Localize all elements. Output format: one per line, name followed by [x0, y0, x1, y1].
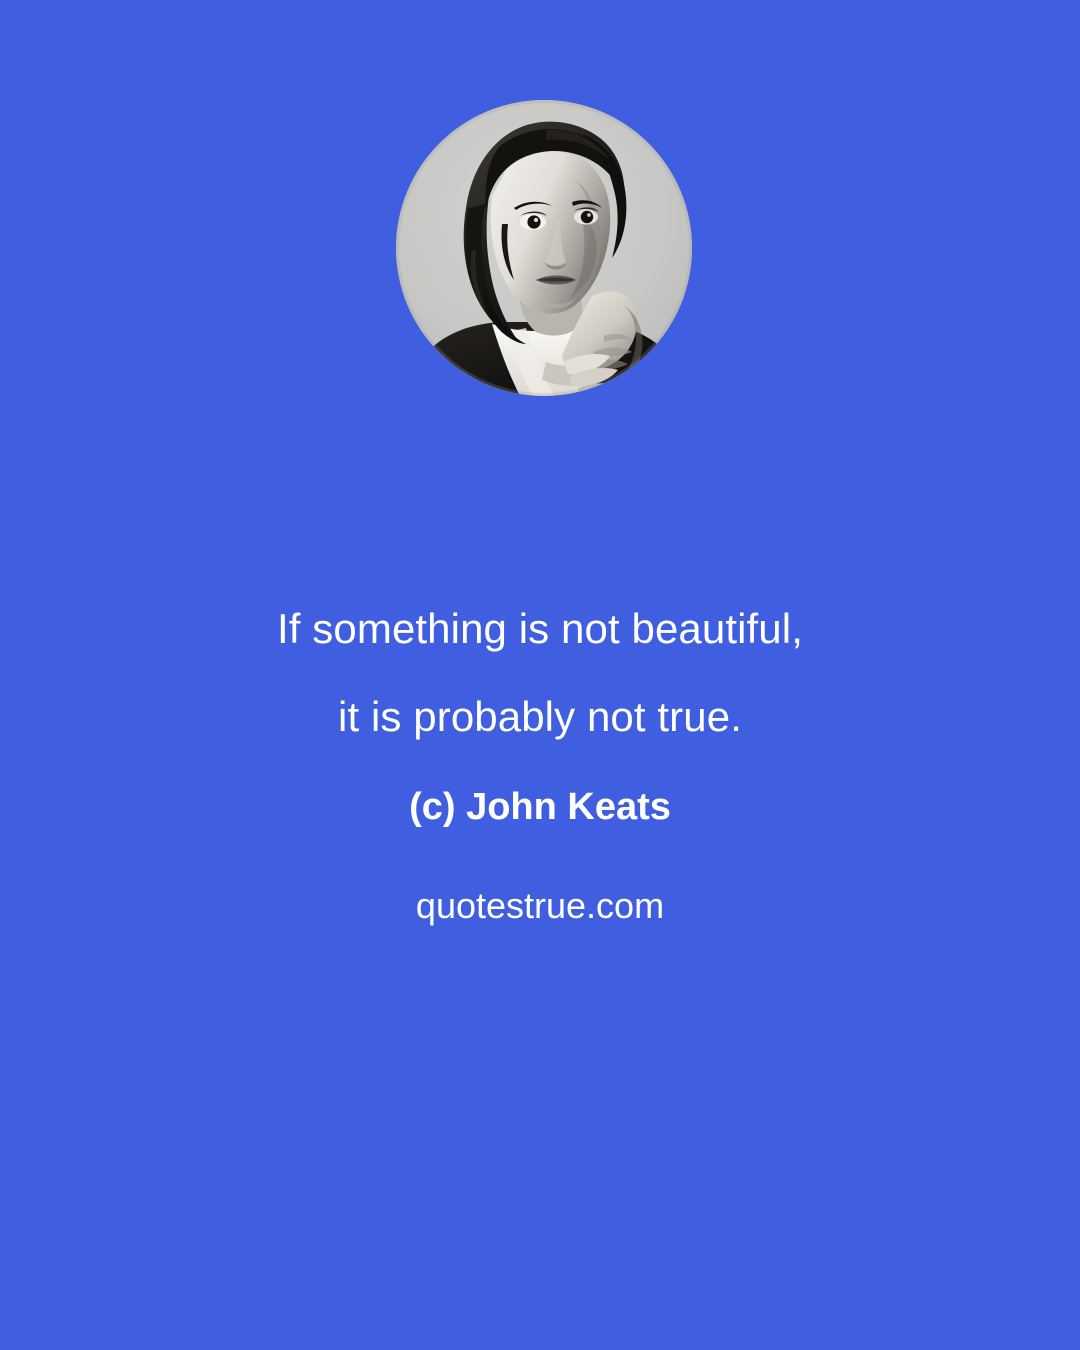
quote-line-2: it is probably not true. [0, 673, 1080, 761]
quote-line-1: If something is not beautiful, [0, 585, 1080, 673]
author-portrait [396, 100, 692, 396]
quote-text: If something is not beautiful, it is pro… [0, 585, 1080, 761]
source-website: quotestrue.com [0, 880, 1080, 932]
author-portrait-photo-icon [396, 100, 692, 396]
author-attribution: (c) John Keats [0, 779, 1080, 835]
quote-card: If something is not beautiful, it is pro… [0, 0, 1080, 1350]
